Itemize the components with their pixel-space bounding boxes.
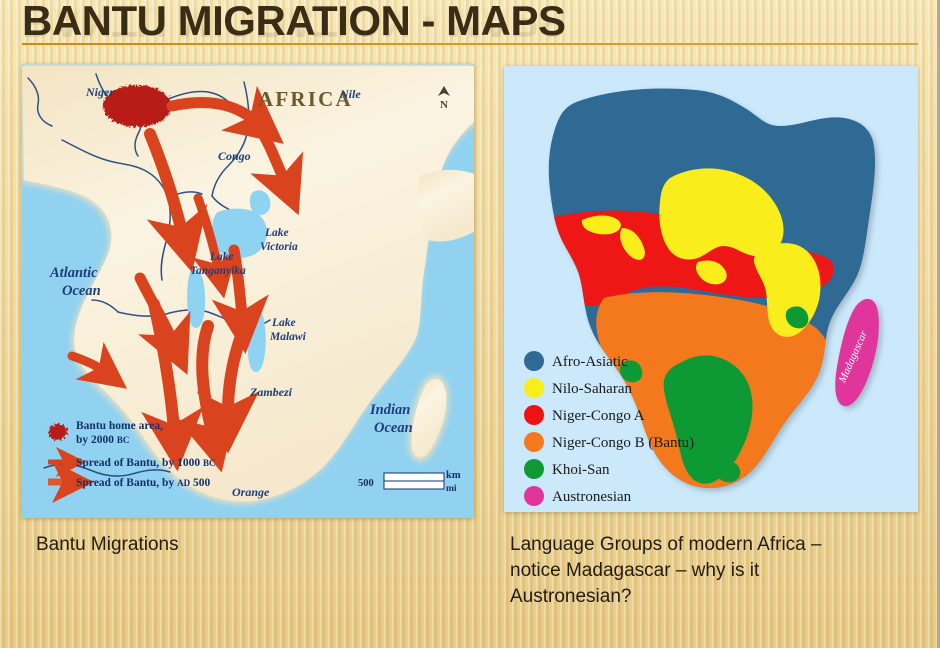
- legend-spread-ad500: Spread of Bantu, by AD 500: [76, 477, 210, 489]
- bantu-migration-map-image[interactable]: AFRICA Niger Nile Congo Lake Victoria La…: [22, 64, 474, 518]
- page-title: BANTU MIGRATION - MAPS: [22, 0, 566, 44]
- legend-label-khoi-san: Khoi-San: [552, 462, 610, 478]
- label-lake-tanganyika-1: Lake: [209, 251, 234, 263]
- legend-swatch-niger-congo-b: [524, 432, 544, 452]
- label-niger: Niger: [85, 85, 114, 99]
- legend-item-khoi-san: Khoi-San: [524, 459, 610, 479]
- label-orange: Orange: [232, 485, 270, 499]
- label-lake-victoria-2: Victoria: [260, 241, 298, 253]
- label-lake-victoria-1: Lake: [264, 227, 289, 239]
- label-indian-2: Ocean: [374, 420, 413, 436]
- slide-title-band: BANTU MIGRATION - MAPS BANTU MIGRATION -…: [0, 0, 940, 62]
- language-groups-map-image[interactable]: Madagascar Afro-Asiatic Nilo-Saharan Nig…: [504, 66, 918, 512]
- label-congo: Congo: [218, 149, 251, 163]
- scale-unit-km: km: [446, 470, 461, 481]
- caption-language-groups: Language Groups of modern Africa – notic…: [510, 532, 920, 610]
- legend-swatch-austronesian: [524, 486, 544, 506]
- legend-swatch-khoi-san: [524, 459, 544, 479]
- legend-swatch-nilo-saharan: [524, 378, 544, 398]
- caption-line-3: Austronesian?: [510, 584, 920, 610]
- title-underline-rule: [22, 43, 918, 45]
- legend-blob-icon: [49, 424, 68, 440]
- scale-unit-mi: mi: [446, 484, 457, 494]
- caption-bantu-migrations: Bantu Migrations: [36, 532, 466, 558]
- legend-swatch-niger-congo-a: [524, 405, 544, 425]
- caption-line-1: Language Groups of modern Africa –: [510, 532, 920, 558]
- legend-label-niger-congo-b: Niger-Congo B (Bantu): [552, 435, 694, 451]
- slide: BANTU MIGRATION - MAPS BANTU MIGRATION -…: [0, 0, 940, 648]
- legend-home-line1: Bantu home area,: [76, 420, 163, 432]
- legend-label-afro-asiatic: Afro-Asiatic: [552, 354, 628, 370]
- legend-swatch-afro-asiatic: [524, 351, 544, 371]
- label-atlantic-2: Ocean: [62, 283, 101, 299]
- legend-item-afro-asiatic: Afro-Asiatic: [524, 351, 628, 371]
- legend-label-austronesian: Austronesian: [552, 489, 632, 505]
- label-lake-tanganyika-2: Tanganyika: [190, 265, 246, 277]
- language-groups-map-svg: Madagascar Afro-Asiatic Nilo-Saharan Nig…: [504, 66, 918, 512]
- label-lake-malawi-1: Lake: [271, 317, 296, 329]
- legend-home-line2: by 2000 BC: [76, 434, 129, 446]
- label-lake-malawi-2: Malawi: [269, 331, 307, 343]
- scale-value: 500: [358, 478, 374, 489]
- label-zambezi: Zambezi: [249, 385, 293, 399]
- label-nile: Nile: [339, 87, 361, 101]
- label-atlantic-1: Atlantic: [49, 265, 98, 281]
- label-africa: AFRICA: [258, 87, 353, 111]
- legend-item-austronesian: Austronesian: [524, 486, 632, 506]
- legend-spread-1000bc: Spread of Bantu, by 1000 BC: [76, 457, 215, 469]
- legend-item-nilo-saharan: Nilo-Saharan: [524, 378, 632, 398]
- bantu-migration-map-svg: AFRICA Niger Nile Congo Lake Victoria La…: [22, 64, 474, 518]
- caption-line-2: notice Madagascar – why is it: [510, 558, 920, 584]
- legend-label-niger-congo-a: Niger-Congo A: [552, 408, 645, 424]
- label-indian-1: Indian: [369, 402, 410, 418]
- legend-label-nilo-saharan: Nilo-Saharan: [552, 381, 632, 397]
- svg-text:N: N: [440, 99, 448, 111]
- lake-tanganyika-shape: [187, 269, 205, 328]
